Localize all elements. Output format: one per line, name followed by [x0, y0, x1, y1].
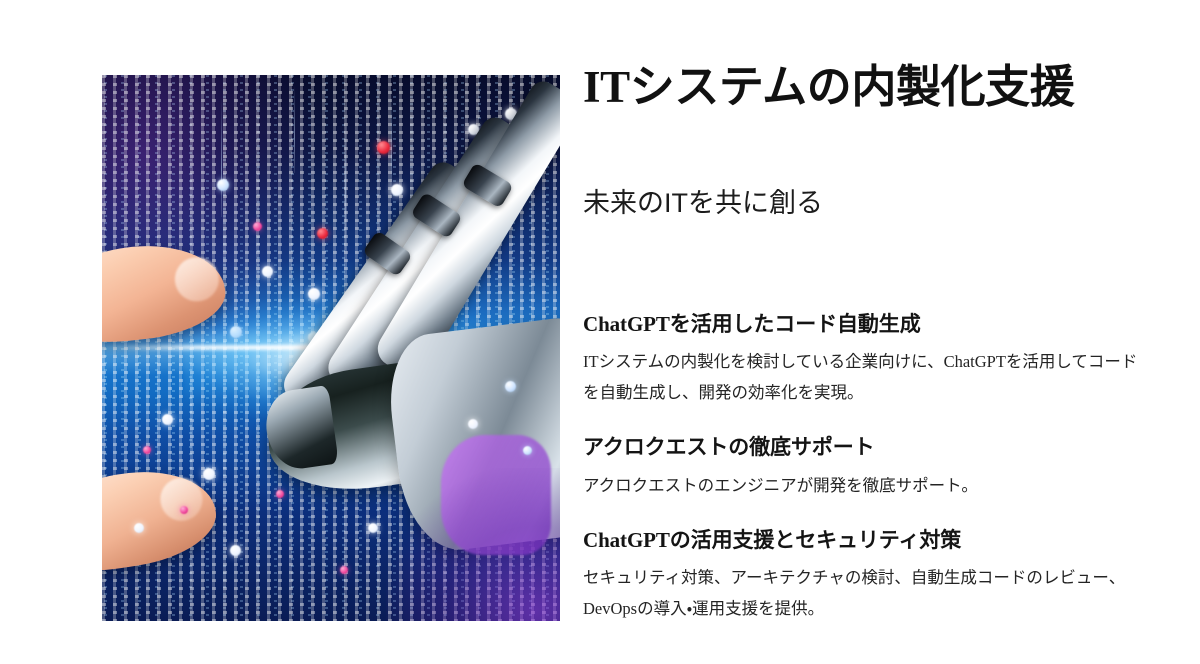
page-title: ITシステムの内製化支援 — [583, 60, 1143, 115]
data-orb — [134, 523, 144, 533]
feature-section: アクロクエストの徹底サポート アクロクエストのエンジニアが開発を徹底サポート。 — [583, 434, 1149, 501]
data-orb — [217, 179, 229, 191]
data-orb — [162, 414, 173, 425]
feature-section-list: ChatGPTを活用したコード自動生成 ITシステムの内製化を検討している企業向… — [583, 311, 1149, 624]
data-thread — [294, 86, 295, 173]
data-orb — [230, 545, 241, 556]
data-orb — [505, 381, 516, 392]
data-orb — [368, 523, 378, 533]
data-thread — [221, 97, 222, 217]
feature-heading-security: ChatGPTの活用支援とセキュリティ対策 — [583, 527, 1149, 553]
hero-purple-haze-bottom-right — [386, 468, 560, 621]
feature-heading-code-generation: ChatGPTを活用したコード自動生成 — [583, 311, 1149, 337]
content-column: ITシステムの内製化支援 未来のITを共に創る ChatGPTを活用したコード自… — [583, 0, 1149, 664]
feature-body-security: セキュリティ対策、アーキテクチャの検討、自動生成コードのレビュー、DevOpsの… — [583, 563, 1145, 624]
hero-image — [102, 75, 560, 621]
data-orb — [203, 468, 215, 480]
page-subtitle: 未来のITを共に創る — [583, 186, 1143, 222]
feature-body-code-generation: ITシステムの内製化を検討している企業向けに、ChatGPTを活用してコードを自… — [583, 347, 1145, 408]
page-root: ITシステムの内製化支援 未来のITを共に創る ChatGPTを活用したコード自… — [0, 0, 1200, 664]
feature-heading-support: アクロクエストの徹底サポート — [583, 434, 1149, 460]
hero-artwork — [102, 75, 560, 621]
feature-body-support: アクロクエストのエンジニアが開発を徹底サポート。 — [583, 471, 1145, 502]
data-orb — [276, 490, 284, 498]
feature-section: ChatGPTの活用支援とセキュリティ対策 セキュリティ対策、アーキテクチャの検… — [583, 527, 1149, 624]
feature-section: ChatGPTを活用したコード自動生成 ITシステムの内製化を検討している企業向… — [583, 311, 1149, 408]
